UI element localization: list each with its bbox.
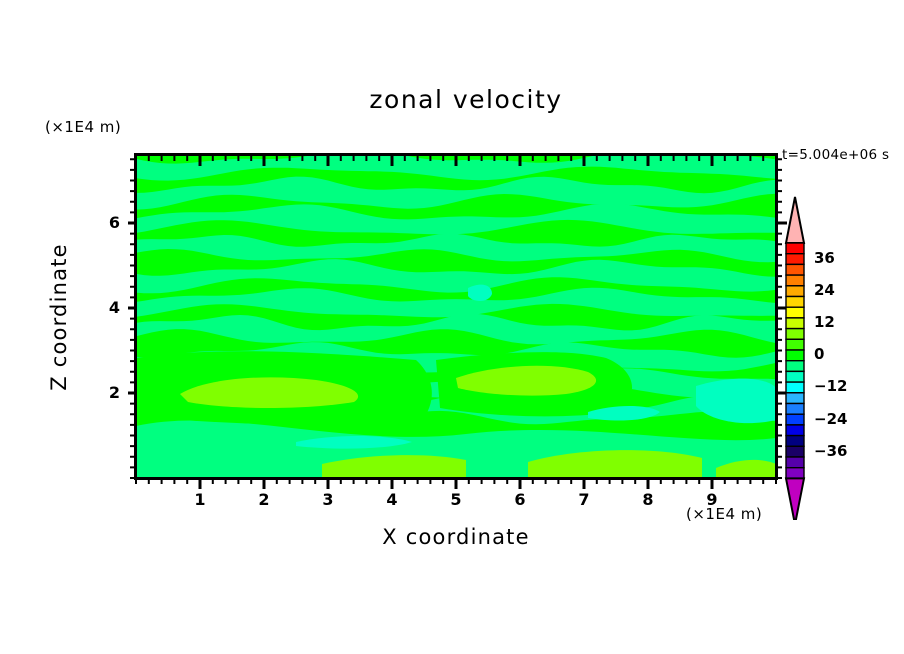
colorbar-band [786, 414, 804, 425]
colorbar-under-arrow [786, 478, 804, 520]
colorbar-band [786, 361, 804, 372]
colorbar-band [786, 382, 804, 393]
y-axis-unit-label: (×1E4 m) [45, 118, 121, 136]
colorbar-band [786, 286, 804, 297]
colorbar-band [786, 329, 804, 340]
plot-frame [128, 147, 792, 495]
y-axis-title: Z coordinate [47, 197, 71, 437]
x-axis-title: X coordinate [136, 525, 776, 549]
x-tick-label: 8 [628, 490, 668, 509]
page-title: zonal velocity [76, 85, 856, 114]
x-tick-label: 3 [308, 490, 348, 509]
x-tick-label: 7 [564, 490, 604, 509]
plot-border [136, 155, 777, 479]
colorbar-tick-label: −12 [814, 377, 847, 395]
colorbar-band [786, 468, 804, 479]
colorbar-band [786, 425, 804, 436]
colorbar-band [786, 350, 804, 361]
figure-canvas: zonal velocity (×1E4 m) (×1E4 m) t=5.004… [0, 0, 904, 654]
y-tick-label: 4 [80, 298, 120, 317]
colorbar-band [786, 436, 804, 447]
time-stamp-label: t=5.004e+06 s [782, 147, 889, 163]
colorbar-band [786, 264, 804, 275]
x-tick-label: 2 [244, 490, 284, 509]
y-tick-label: 2 [80, 383, 120, 402]
x-tick-label: 4 [372, 490, 412, 509]
x-tick-label: 9 [692, 490, 732, 509]
colorbar-band [786, 371, 804, 382]
x-tick-label: 6 [500, 490, 540, 509]
colorbar-tick-label: −24 [814, 410, 847, 428]
colorbar-band [786, 446, 804, 457]
colorbar-band [786, 404, 804, 415]
colorbar-tick-label: 36 [814, 249, 835, 267]
y-tick-label: 6 [80, 213, 120, 232]
colorbar-tick-label: 24 [814, 281, 835, 299]
x-tick-label: 5 [436, 490, 476, 509]
colorbar-tick-label: 12 [814, 313, 835, 331]
colorbar-band [786, 297, 804, 308]
colorbar-band [786, 254, 804, 265]
colorbar-tick-label: 0 [814, 345, 824, 363]
colorbar-band [786, 318, 804, 329]
colorbar-band [786, 307, 804, 318]
colorbar-band [786, 393, 804, 404]
colorbar-band [786, 457, 804, 468]
colorbar-tick-label: −36 [814, 442, 847, 460]
colorbar-band [786, 243, 804, 254]
colorbar-over-arrow [786, 197, 804, 243]
colorbar-band [786, 339, 804, 350]
x-tick-label: 1 [180, 490, 220, 509]
colorbar-band [786, 275, 804, 286]
